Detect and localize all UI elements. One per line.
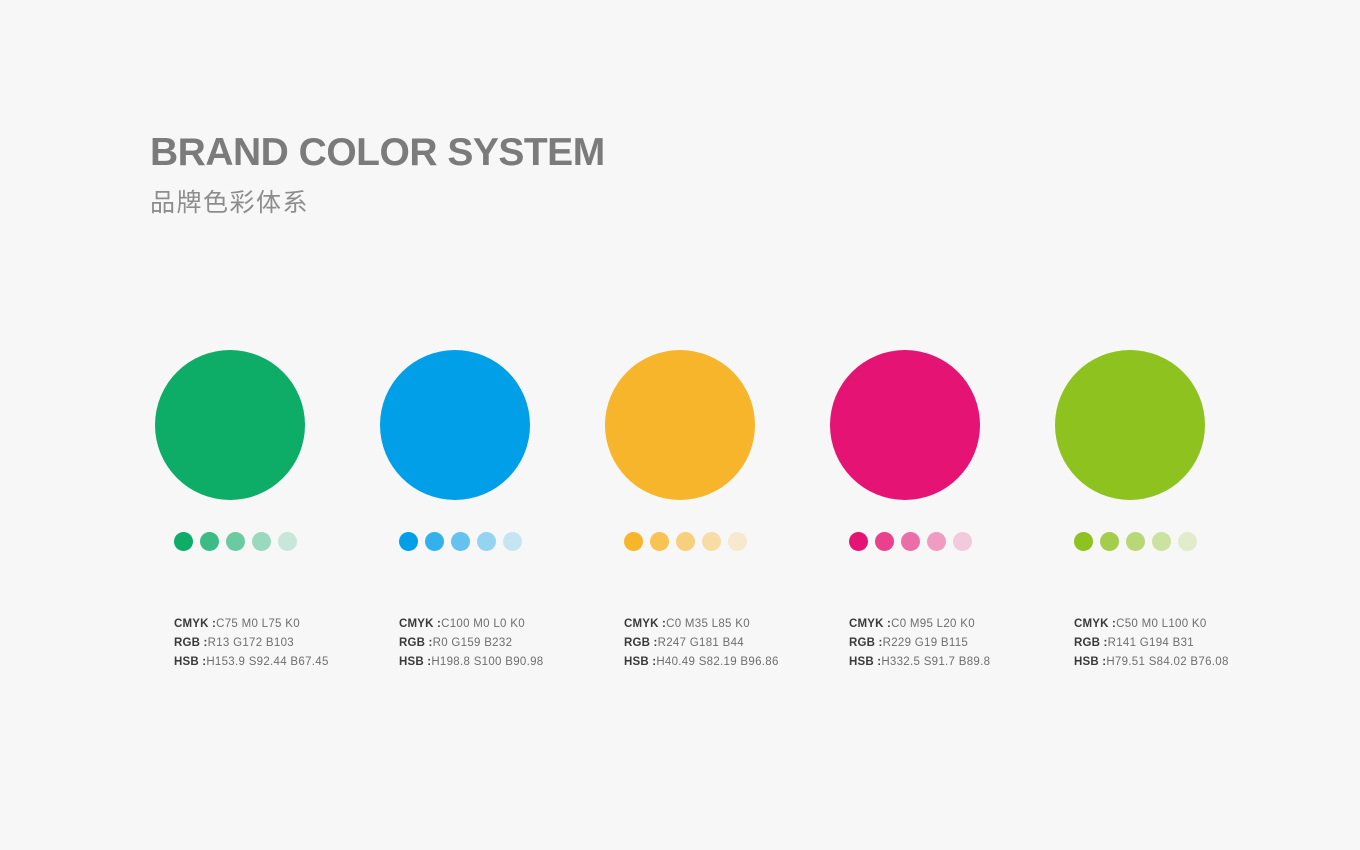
- color-swatch-column: CMYK :C75 M0 L75 K0RGB :R13 G172 B103HSB…: [155, 350, 305, 551]
- spec-label-cmyk: CMYK :: [1074, 618, 1116, 630]
- spec-value-rgb: R141 G194 B31: [1108, 637, 1194, 649]
- color-spec-block: CMYK :C50 M0 L100 K0RGB :R141 G194 B31HS…: [1074, 615, 1229, 672]
- spec-value-hsb: H198.8 S100 B90.98: [431, 656, 543, 668]
- tint-dot-brand-blue-20[interactable]: [503, 532, 522, 551]
- spec-label-hsb: HSB :: [849, 656, 881, 668]
- page-title: BRAND COLOR SYSTEM: [150, 132, 605, 174]
- spec-label-rgb: RGB :: [849, 637, 883, 649]
- spec-line-cmyk: CMYK :C0 M35 L85 K0: [624, 615, 779, 634]
- spec-line-cmyk: CMYK :C50 M0 L100 K0: [1074, 615, 1229, 634]
- spec-line-rgb: RGB :R0 G159 B232: [399, 634, 544, 653]
- tint-dot-brand-magenta-100[interactable]: [849, 532, 868, 551]
- tint-dot-brand-lime-20[interactable]: [1178, 532, 1197, 551]
- spec-value-rgb: R0 G159 B232: [433, 637, 513, 649]
- spec-value-cmyk: C0 M95 L20 K0: [891, 618, 975, 630]
- spec-line-rgb: RGB :R247 G181 B44: [624, 634, 779, 653]
- page-header: BRAND COLOR SYSTEM 品牌色彩体系: [150, 132, 605, 219]
- tint-dot-brand-green-20[interactable]: [278, 532, 297, 551]
- spec-value-hsb: H332.5 S91.7 B89.8: [881, 656, 990, 668]
- tint-dot-brand-lime-80[interactable]: [1100, 532, 1119, 551]
- spec-label-cmyk: CMYK :: [174, 618, 216, 630]
- spec-value-hsb: H40.49 S82.19 B96.86: [656, 656, 778, 668]
- tint-strip: [830, 532, 980, 551]
- spec-value-cmyk: C0 M35 L85 K0: [666, 618, 750, 630]
- color-spec-block: CMYK :C75 M0 L75 K0RGB :R13 G172 B103HSB…: [174, 615, 329, 672]
- page-subtitle: 品牌色彩体系: [150, 183, 605, 219]
- color-swatch-column: CMYK :C0 M95 L20 K0RGB :R229 G19 B115HSB…: [830, 350, 980, 551]
- brand-color-system-page: BRAND COLOR SYSTEM 品牌色彩体系 CMYK :C75 M0 L…: [0, 0, 1360, 850]
- swatch-circle-brand-green[interactable]: [155, 350, 305, 500]
- tint-dot-brand-magenta-20[interactable]: [953, 532, 972, 551]
- tint-dot-brand-yellow-40[interactable]: [702, 532, 721, 551]
- spec-label-cmyk: CMYK :: [399, 618, 441, 630]
- spec-label-hsb: HSB :: [624, 656, 656, 668]
- spec-value-hsb: H79.51 S84.02 B76.08: [1106, 656, 1228, 668]
- tint-dot-brand-lime-100[interactable]: [1074, 532, 1093, 551]
- spec-value-cmyk: C75 M0 L75 K0: [216, 618, 300, 630]
- tint-dot-brand-lime-60[interactable]: [1126, 532, 1145, 551]
- tint-dot-brand-blue-100[interactable]: [399, 532, 418, 551]
- spec-line-cmyk: CMYK :C0 M95 L20 K0: [849, 615, 990, 634]
- spec-line-hsb: HSB :H153.9 S92.44 B67.45: [174, 653, 329, 672]
- tint-dot-brand-yellow-60[interactable]: [676, 532, 695, 551]
- spec-line-hsb: HSB :H40.49 S82.19 B96.86: [624, 653, 779, 672]
- tint-strip: [605, 532, 755, 551]
- tint-strip: [1055, 532, 1205, 551]
- spec-line-cmyk: CMYK :C100 M0 L0 K0: [399, 615, 544, 634]
- color-swatch-row: CMYK :C75 M0 L75 K0RGB :R13 G172 B103HSB…: [155, 350, 1205, 551]
- spec-value-hsb: H153.9 S92.44 B67.45: [206, 656, 328, 668]
- spec-line-rgb: RGB :R141 G194 B31: [1074, 634, 1229, 653]
- spec-label-rgb: RGB :: [1074, 637, 1108, 649]
- spec-label-hsb: HSB :: [399, 656, 431, 668]
- spec-label-rgb: RGB :: [624, 637, 658, 649]
- spec-line-hsb: HSB :H198.8 S100 B90.98: [399, 653, 544, 672]
- color-swatch-column: CMYK :C50 M0 L100 K0RGB :R141 G194 B31HS…: [1055, 350, 1205, 551]
- color-swatch-column: CMYK :C100 M0 L0 K0RGB :R0 G159 B232HSB …: [380, 350, 530, 551]
- spec-label-cmyk: CMYK :: [624, 618, 666, 630]
- spec-label-rgb: RGB :: [174, 637, 208, 649]
- tint-dot-brand-green-100[interactable]: [174, 532, 193, 551]
- spec-label-rgb: RGB :: [399, 637, 433, 649]
- spec-label-hsb: HSB :: [1074, 656, 1106, 668]
- swatch-circle-brand-yellow[interactable]: [605, 350, 755, 500]
- tint-dot-brand-lime-40[interactable]: [1152, 532, 1171, 551]
- tint-dot-brand-magenta-40[interactable]: [927, 532, 946, 551]
- spec-line-hsb: HSB :H332.5 S91.7 B89.8: [849, 653, 990, 672]
- spec-value-rgb: R13 G172 B103: [208, 637, 294, 649]
- spec-label-hsb: HSB :: [174, 656, 206, 668]
- swatch-circle-brand-lime[interactable]: [1055, 350, 1205, 500]
- spec-line-rgb: RGB :R13 G172 B103: [174, 634, 329, 653]
- spec-value-cmyk: C50 M0 L100 K0: [1116, 618, 1207, 630]
- tint-dot-brand-yellow-100[interactable]: [624, 532, 643, 551]
- tint-strip: [155, 532, 305, 551]
- tint-dot-brand-yellow-80[interactable]: [650, 532, 669, 551]
- tint-dot-brand-blue-60[interactable]: [451, 532, 470, 551]
- tint-dot-brand-blue-40[interactable]: [477, 532, 496, 551]
- spec-value-rgb: R229 G19 B115: [883, 637, 969, 649]
- tint-dot-brand-green-40[interactable]: [252, 532, 271, 551]
- spec-label-cmyk: CMYK :: [849, 618, 891, 630]
- tint-dot-brand-yellow-20[interactable]: [728, 532, 747, 551]
- spec-line-hsb: HSB :H79.51 S84.02 B76.08: [1074, 653, 1229, 672]
- spec-value-cmyk: C100 M0 L0 K0: [441, 618, 525, 630]
- color-spec-block: CMYK :C100 M0 L0 K0RGB :R0 G159 B232HSB …: [399, 615, 544, 672]
- spec-line-cmyk: CMYK :C75 M0 L75 K0: [174, 615, 329, 634]
- color-spec-block: CMYK :C0 M35 L85 K0RGB :R247 G181 B44HSB…: [624, 615, 779, 672]
- color-spec-block: CMYK :C0 M95 L20 K0RGB :R229 G19 B115HSB…: [849, 615, 990, 672]
- tint-dot-brand-green-60[interactable]: [226, 532, 245, 551]
- color-swatch-column: CMYK :C0 M35 L85 K0RGB :R247 G181 B44HSB…: [605, 350, 755, 551]
- swatch-circle-brand-magenta[interactable]: [830, 350, 980, 500]
- tint-dot-brand-magenta-80[interactable]: [875, 532, 894, 551]
- tint-dot-brand-green-80[interactable]: [200, 532, 219, 551]
- tint-strip: [380, 532, 530, 551]
- spec-value-rgb: R247 G181 B44: [658, 637, 744, 649]
- spec-line-rgb: RGB :R229 G19 B115: [849, 634, 990, 653]
- swatch-circle-brand-blue[interactable]: [380, 350, 530, 500]
- tint-dot-brand-magenta-60[interactable]: [901, 532, 920, 551]
- tint-dot-brand-blue-80[interactable]: [425, 532, 444, 551]
